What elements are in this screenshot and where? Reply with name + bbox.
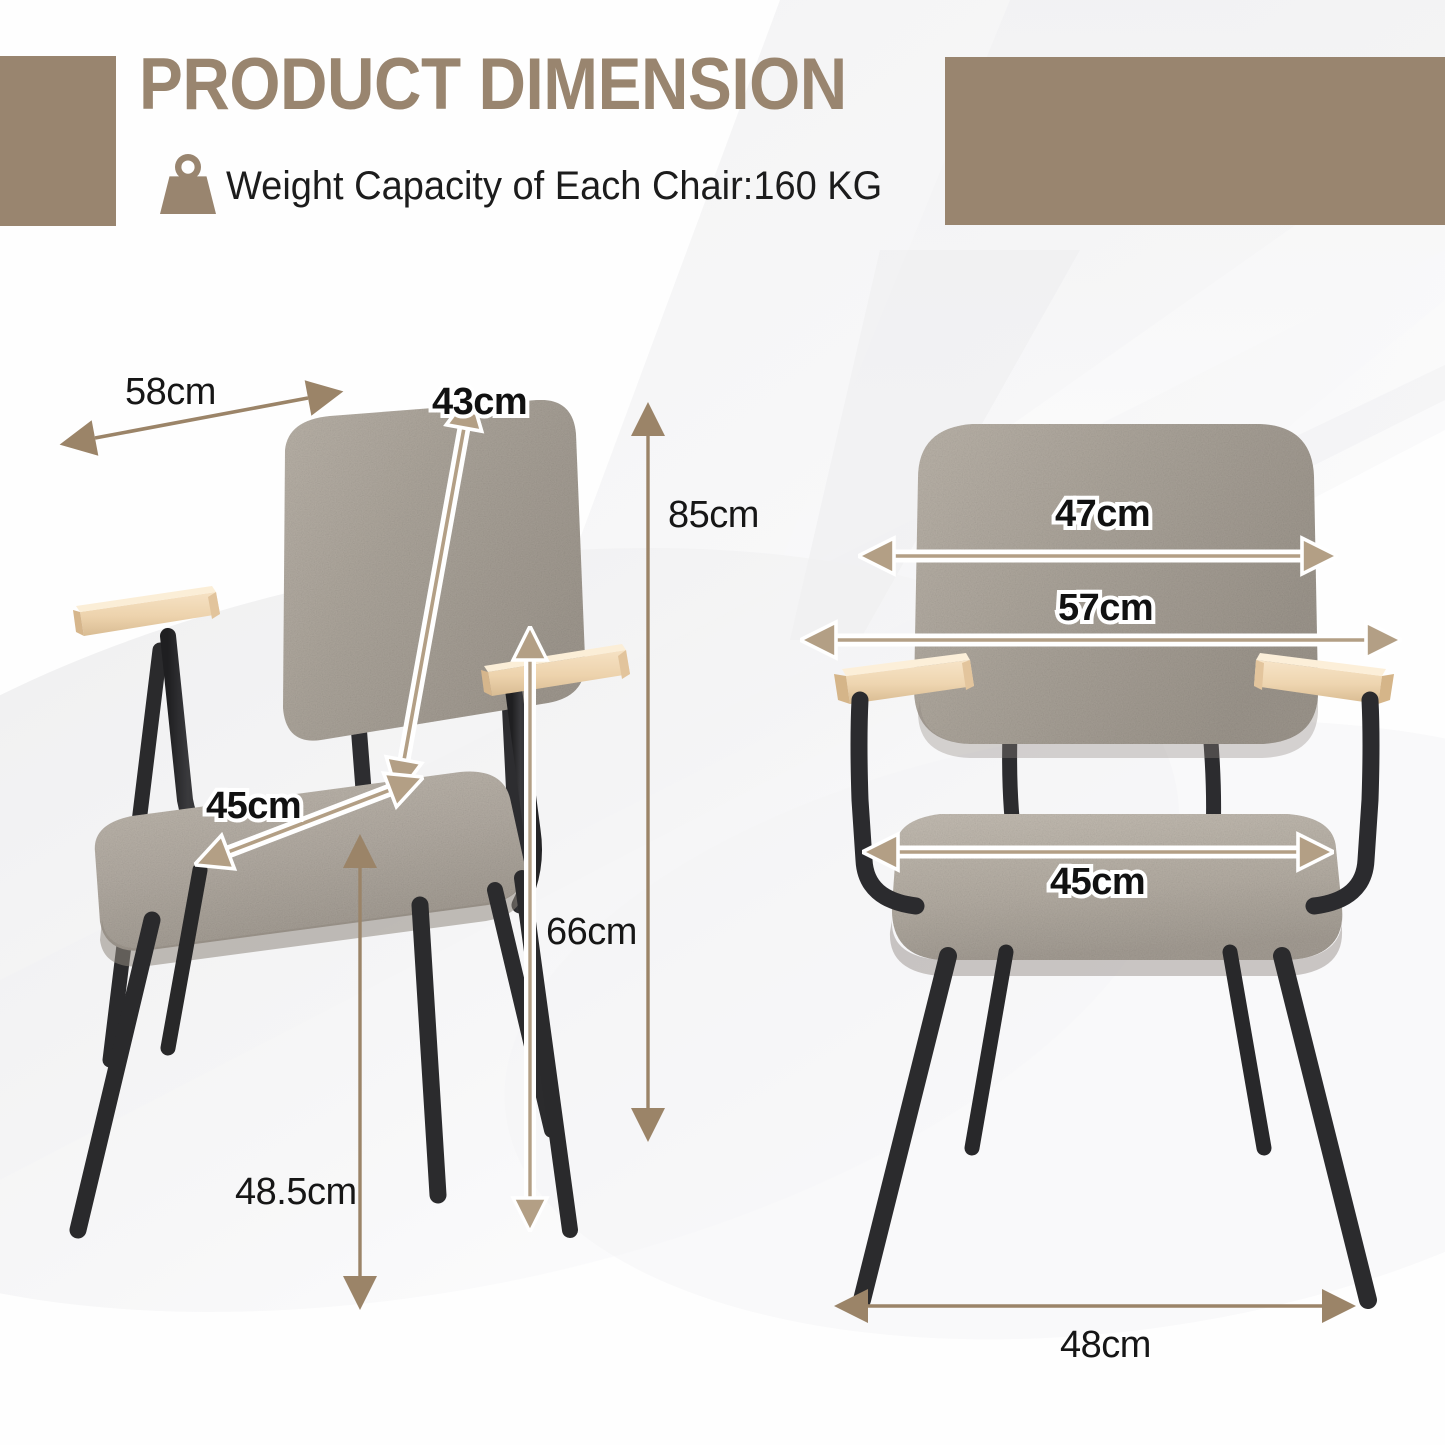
dimension-label-45cm-right: 45cm 45cm (1050, 862, 1145, 902)
header-accent-block-left (0, 56, 116, 226)
dimension-label-43cm: 43cm 43cm (432, 382, 527, 422)
label-57cm-text: 57cm (1058, 587, 1153, 629)
weight-capacity-text: Weight Capacity of Each Chair:160 KG (226, 162, 882, 210)
armrest-left (73, 586, 220, 636)
page-title: PRODUCT DIMENSION (139, 50, 877, 120)
header-accent-block-right (945, 57, 1445, 225)
label-45cm-left-text: 45cm (206, 785, 301, 827)
weight-icon (152, 148, 224, 220)
dimension-label-85cm: 85cm (668, 495, 759, 535)
dimension-label-58cm: 58cm (125, 372, 216, 412)
dimension-label-48cm: 48cm (1060, 1325, 1151, 1365)
label-47cm-text: 47cm (1055, 493, 1150, 535)
dimension-label-47cm: 47cm 47cm (1055, 494, 1150, 534)
infographic-canvas: PRODUCT DIMENSION Weight Capacity of Eac… (0, 0, 1445, 1445)
dimension-label-45cm-left: 45cm 45cm (206, 786, 301, 826)
chair-angled-view (40, 400, 680, 1320)
dimension-label-48_5cm: 48.5cm (235, 1172, 357, 1212)
dimension-label-57cm: 57cm 57cm (1058, 588, 1153, 628)
dimension-label-66cm: 66cm (546, 912, 637, 952)
label-43cm-text: 43cm (432, 381, 527, 423)
label-45cm-right-text: 45cm (1050, 861, 1145, 903)
